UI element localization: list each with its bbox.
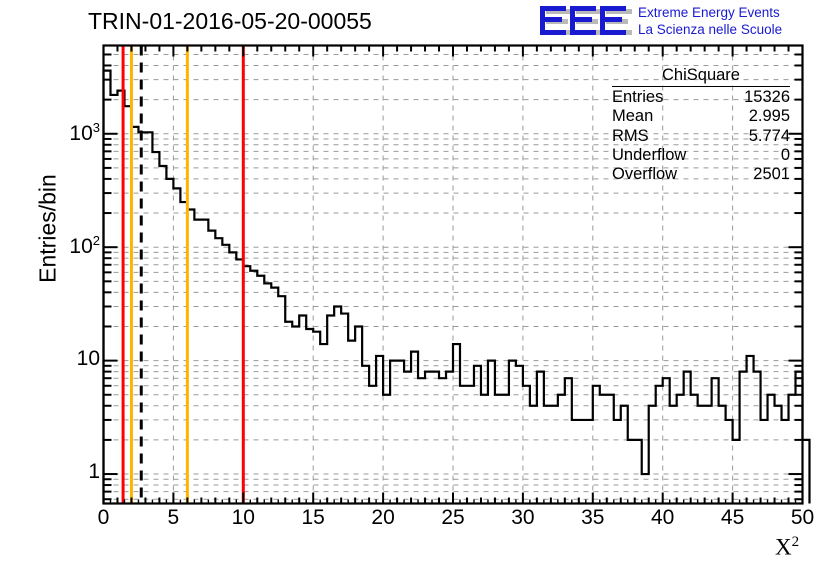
stats-row-key: Overflow <box>612 165 677 184</box>
x-tick-label: 0 <box>84 506 124 530</box>
stats-row-key: RMS <box>612 127 649 146</box>
x-tick-label: 50 <box>783 506 823 530</box>
x-tick-label: 40 <box>643 506 683 530</box>
x-tick-label: 20 <box>363 506 403 530</box>
stats-row-value: 15326 <box>744 88 790 107</box>
stats-row-value: 5.774 <box>749 127 790 146</box>
x-tick-label: 10 <box>223 506 263 530</box>
stats-row-key: Entries <box>612 88 663 107</box>
x-tick-label: 15 <box>293 506 333 530</box>
stats-row: Overflow2501 <box>612 165 790 184</box>
stats-row: Mean2.995 <box>612 107 790 126</box>
stats-row-value: 2501 <box>753 165 790 184</box>
stats-title: ChiSquare <box>612 66 790 86</box>
stats-row-key: Underflow <box>612 146 686 165</box>
stats-row-value: 0 <box>781 146 790 165</box>
stats-row-value: 2.995 <box>749 107 790 126</box>
stats-divider <box>612 86 790 87</box>
x-tick-label: 30 <box>503 506 543 530</box>
stats-row: Underflow0 <box>612 146 790 165</box>
x-tick-label: 35 <box>573 506 613 530</box>
stats-rows: Entries15326Mean2.995RMS5.774Underflow0O… <box>612 88 790 184</box>
stats-row: RMS5.774 <box>612 127 790 146</box>
x-tick-label: 45 <box>713 506 753 530</box>
root-canvas: TRIN-01-2016-05-20-00055 <box>0 0 836 572</box>
stats-row: Entries15326 <box>612 88 790 107</box>
x-tick-label: 25 <box>433 506 473 530</box>
stats-box: ChiSquare Entries15326Mean2.995RMS5.774U… <box>612 66 790 184</box>
stats-row-key: Mean <box>612 107 653 126</box>
x-tick-label: 5 <box>153 506 193 530</box>
